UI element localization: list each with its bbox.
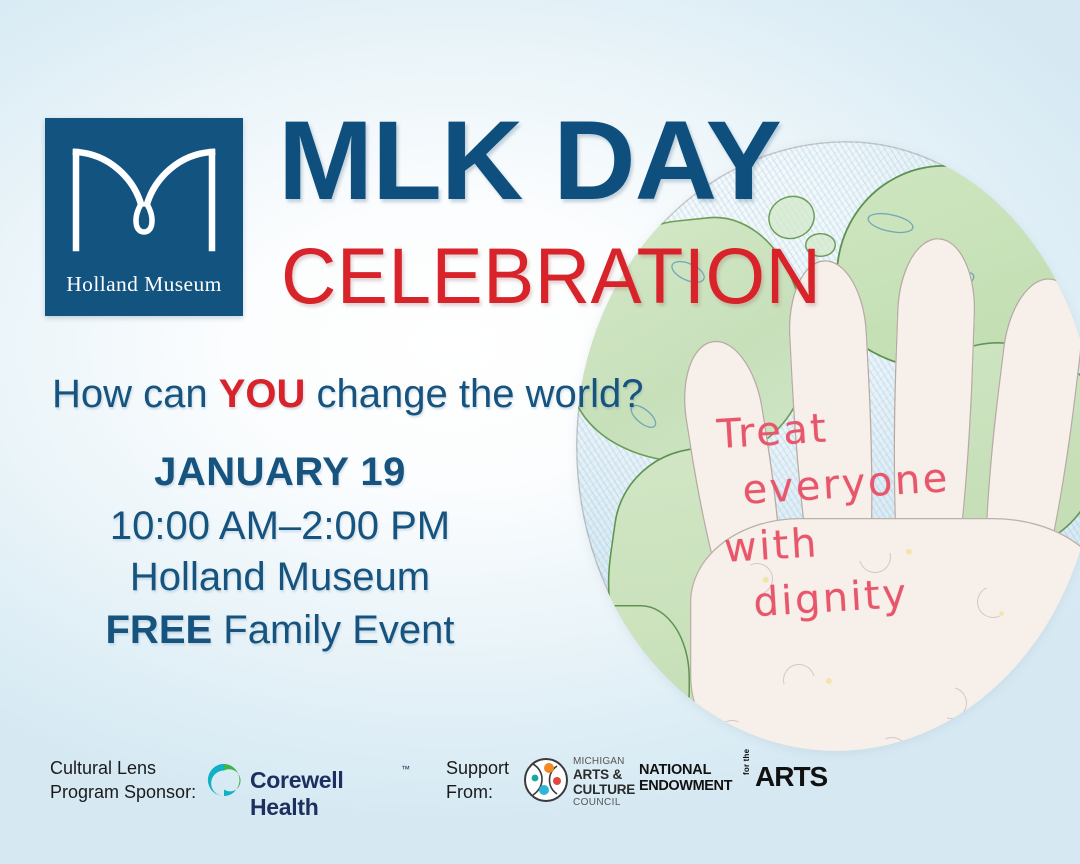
event-cost: FREE Family Event [0,608,560,653]
sponsor-label-line-2: Program Sponsor: [50,782,196,802]
macc-wordmark: MICHIGAN ARTS & CULTURE COUNCIL [573,756,635,808]
mlk-day-celebration-poster: Treat everyone with dignity Holland Muse… [0,0,1080,864]
macc-line-1: MICHIGAN [573,756,635,767]
event-cost-emphasis: FREE [106,608,213,652]
nea-for-the-vertical: for the [743,764,755,794]
sponsor-label-line-1: Cultural Lens [50,758,156,778]
corewell-trademark-symbol: ™ [401,764,410,774]
event-cost-rest: Family Event [212,608,454,652]
event-details: JANUARY 19 10:00 AM–2:00 PM Holland Muse… [0,450,560,653]
cultural-lens-sponsor-label: Cultural Lens Program Sponsor: [50,756,196,805]
nea-arts-wordmark: ARTS [755,761,827,793]
sponsor-footer: Cultural Lens Program Sponsor: Corewell … [0,748,1080,820]
event-venue: Holland Museum [0,555,560,600]
support-label-line-1: Support [446,758,509,778]
holland-museum-logo-text: Holland Museum [45,272,243,297]
corewell-swirl-icon [205,761,243,799]
support-label-line-2: From: [446,782,493,802]
corewell-health-wordmark: Corewell Health [250,767,417,821]
tagline-before: How can [52,372,219,416]
holland-museum-logo: Holland Museum [45,118,243,316]
page-title-celebration: CELEBRATION [281,236,821,315]
handwritten-message: Treat everyone with dignity [716,383,1080,634]
event-time: 10:00 AM–2:00 PM [0,504,560,549]
support-from-label: Support From: [446,756,509,805]
nea-line-2: ENDOWMENT [639,778,732,794]
michigan-arts-culture-council-circle-icon [523,757,569,803]
tagline-after: change the world? [305,372,643,416]
event-date: JANUARY 19 [0,450,560,495]
nea-for-the-text: for the [742,763,751,775]
corewell-health-logo: Corewell Health ™ [205,758,417,802]
holland-museum-m-mark-icon [69,148,219,252]
nea-wordmark-left: NATIONAL ENDOWMENT [639,762,732,794]
tagline: How can YOU change the world? [52,372,643,417]
macc-line-4: COUNCIL [573,797,635,808]
nea-line-1: NATIONAL [639,762,732,778]
landmass-antarctica [576,605,690,751]
michigan-arts-culture-council-logo: MICHIGAN ARTS & CULTURE COUNCIL [523,754,628,808]
macc-line-2: ARTS & [573,767,635,782]
tagline-emphasis: YOU [219,372,306,416]
page-title-mlk-day: MLK DAY [278,105,781,217]
macc-line-3: CULTURE [573,782,635,797]
